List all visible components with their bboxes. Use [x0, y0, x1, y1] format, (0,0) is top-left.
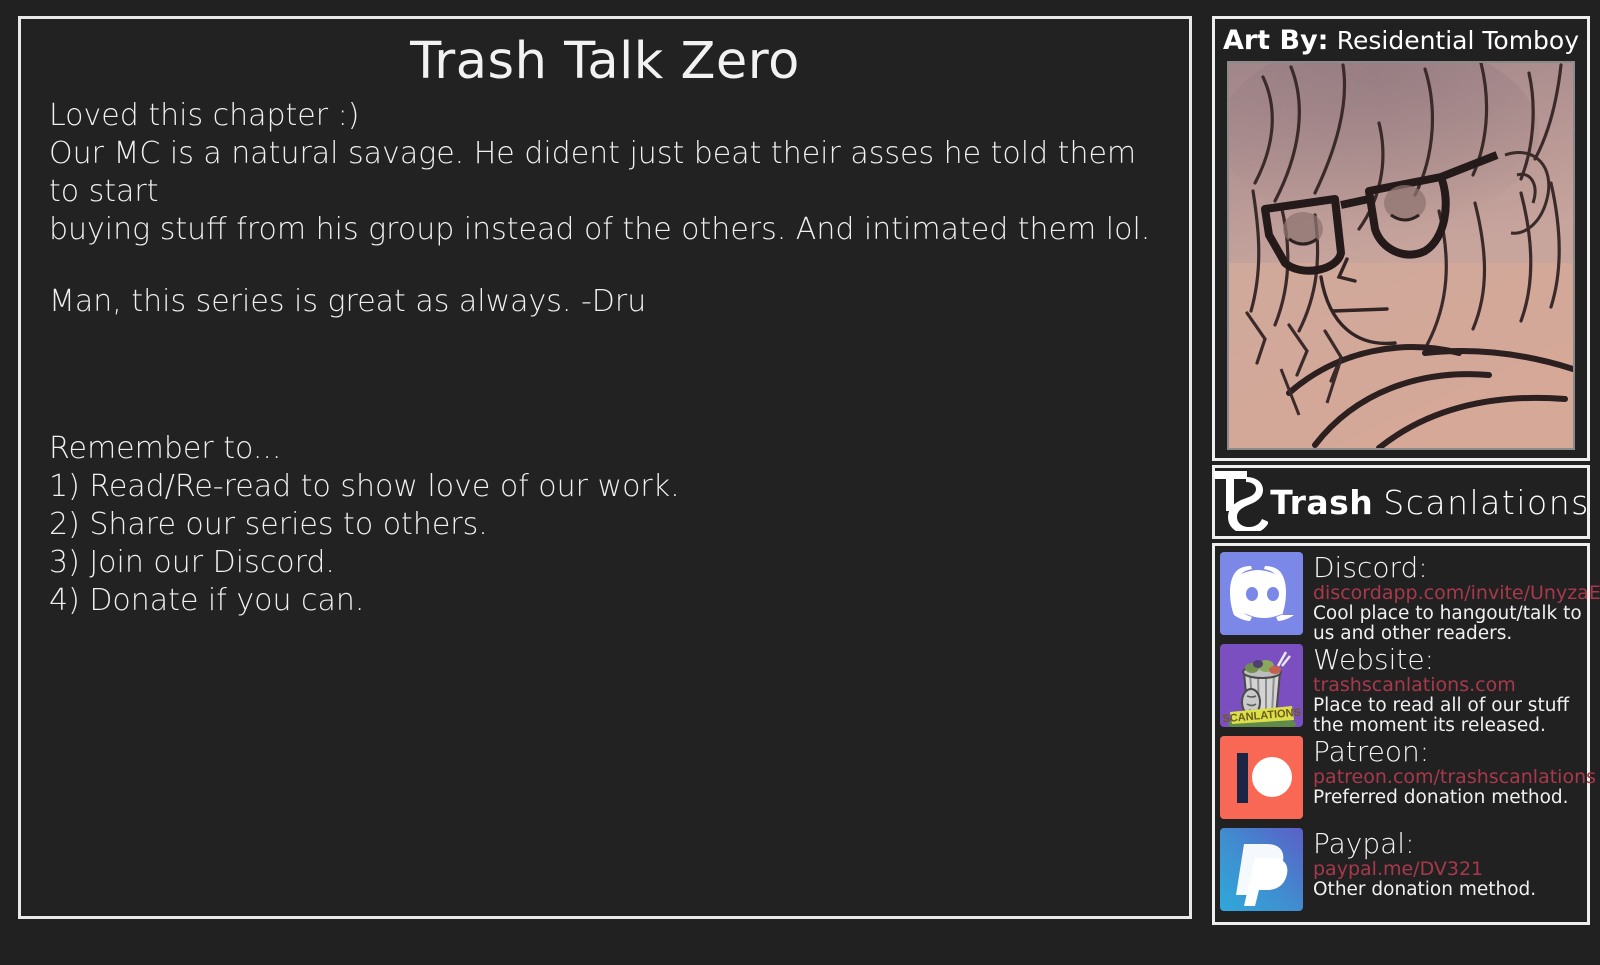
- sidebar: Art By: Residential Tomboy: [1212, 16, 1590, 919]
- link-row-discord[interactable]: Discord: discordapp.com/invite/UnyzaEE C…: [1220, 552, 1582, 640]
- comment-paragraph-2: Man, this series is great as always. -Dr…: [37, 283, 1173, 321]
- artwork-image: [1229, 63, 1573, 448]
- brand-wordmark: TrashScanlations: [1270, 483, 1590, 522]
- link-url-paypal[interactable]: paypal.me/DV321: [1313, 858, 1582, 880]
- link-url-website[interactable]: trashscanlations.com: [1313, 674, 1582, 696]
- page-root: Trash Talk Zero Loved this chapter :) Ou…: [0, 0, 1600, 965]
- ts-monogram-icon: [1212, 469, 1268, 536]
- link-desc-discord: Cool place to hangout/talk to us and oth…: [1313, 604, 1582, 644]
- spacer-2: [37, 322, 1173, 430]
- link-text-patreon: Patreon: patreon.com/trashscanlations Pr…: [1313, 736, 1582, 808]
- art-credit-label: Art By:: [1223, 25, 1329, 56]
- link-text-discord: Discord: discordapp.com/invite/UnyzaEE C…: [1313, 552, 1582, 644]
- spacer-1: [37, 249, 1173, 283]
- link-url-patreon[interactable]: patreon.com/trashscanlations: [1313, 766, 1582, 788]
- page-title: Trash Talk Zero: [37, 35, 1173, 89]
- link-desc-paypal: Other donation method.: [1313, 880, 1582, 900]
- art-credit: Art By: Residential Tomboy: [1221, 25, 1581, 56]
- discord-icon[interactable]: [1220, 552, 1303, 635]
- reminder-item-3: 3) Join our Discord.: [37, 544, 1173, 582]
- link-row-patreon[interactable]: Patreon: patreon.com/trashscanlations Pr…: [1220, 736, 1582, 824]
- link-url-discord[interactable]: discordapp.com/invite/UnyzaEE: [1313, 582, 1582, 604]
- art-section: Art By: Residential Tomboy: [1212, 16, 1590, 461]
- link-desc-website: Place to read all of our stuff the momen…: [1313, 696, 1582, 736]
- trash-talk-panel: Trash Talk Zero Loved this chapter :) Ou…: [18, 16, 1192, 919]
- link-desc-patreon: Preferred donation method.: [1313, 788, 1582, 808]
- link-title-discord: Discord:: [1313, 554, 1582, 582]
- reminder-item-1: 1) Read/Re-read to show love of our work…: [37, 468, 1173, 506]
- paypal-icon[interactable]: [1220, 828, 1303, 911]
- link-text-website: Website: trashscanlations.com Place to r…: [1313, 644, 1582, 736]
- art-credit-name: Residential Tomboy: [1337, 26, 1579, 55]
- links-section: Discord: discordapp.com/invite/UnyzaEE C…: [1212, 543, 1590, 925]
- brand-section: TrashScanlations: [1212, 465, 1590, 539]
- link-row-paypal[interactable]: Paypal: paypal.me/DV321 Other donation m…: [1220, 828, 1582, 916]
- reminder-item-2: 2) Share our series to others.: [37, 506, 1173, 544]
- comment-paragraph-1: Loved this chapter :) Our MC is a natura…: [37, 97, 1173, 249]
- link-title-paypal: Paypal:: [1313, 830, 1582, 858]
- link-row-website[interactable]: SCANLATIONS Website: trashscanlations.co…: [1220, 644, 1582, 732]
- link-title-patreon: Patreon:: [1313, 738, 1582, 766]
- link-text-paypal: Paypal: paypal.me/DV321 Other donation m…: [1313, 828, 1582, 900]
- brand-word-scanlations: Scanlations: [1383, 483, 1590, 522]
- reminder-item-4: 4) Donate if you can.: [37, 582, 1173, 620]
- brand-word-trash: Trash: [1270, 483, 1373, 522]
- artwork-frame: [1227, 61, 1575, 450]
- trashcan-website-icon[interactable]: SCANLATIONS: [1220, 644, 1303, 727]
- link-title-website: Website:: [1313, 646, 1582, 674]
- patreon-icon[interactable]: [1220, 736, 1303, 819]
- reminder-heading: Remember to...: [37, 430, 1173, 468]
